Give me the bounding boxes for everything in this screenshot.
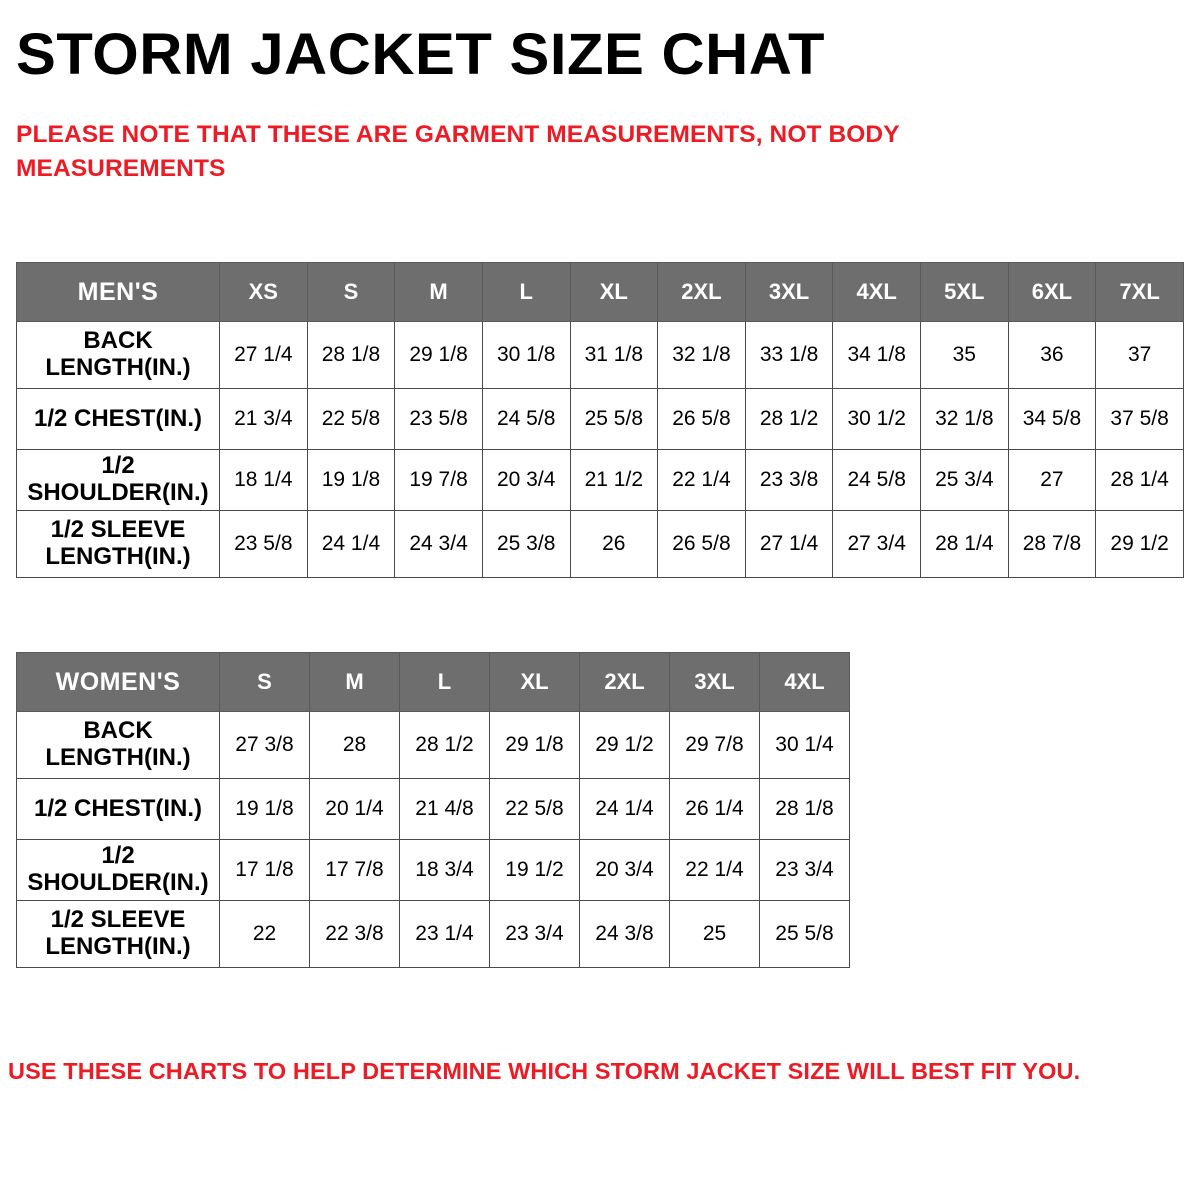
measurement-cell: 29 1/8 bbox=[395, 322, 483, 389]
table-row: 1/2 SLEEVELENGTH(IN.)2222 3/823 1/423 3/… bbox=[17, 901, 850, 968]
measurement-cell: 22 5/8 bbox=[490, 779, 580, 840]
measurement-cell: 22 3/8 bbox=[310, 901, 400, 968]
measurement-cell: 33 1/8 bbox=[745, 322, 833, 389]
measurement-cell: 34 5/8 bbox=[1008, 389, 1096, 450]
measurement-cell: 29 1/8 bbox=[490, 712, 580, 779]
measurement-cell: 28 1/8 bbox=[760, 779, 850, 840]
measurement-cell: 25 3/8 bbox=[482, 511, 570, 578]
womens-size-table: WOMEN'SSMLXL2XL3XL4XL BACKLENGTH(IN.)27 … bbox=[16, 652, 850, 968]
measurement-cell: 20 1/4 bbox=[310, 779, 400, 840]
row-label-line: 1/2 SHOULDER(IN.) bbox=[17, 843, 219, 897]
table-row: 1/2 CHEST(IN.)19 1/820 1/421 4/822 5/824… bbox=[17, 779, 850, 840]
womens-corner-label: WOMEN'S bbox=[17, 653, 220, 712]
measurement-cell: 25 5/8 bbox=[760, 901, 850, 968]
measurement-cell: 26 bbox=[570, 511, 658, 578]
table-row: 1/2 SHOULDER(IN.)18 1/419 1/819 7/820 3/… bbox=[17, 450, 1184, 511]
measurement-cell: 25 5/8 bbox=[570, 389, 658, 450]
size-header-s: S bbox=[220, 653, 310, 712]
size-header-3xl: 3XL bbox=[670, 653, 760, 712]
measurement-cell: 20 3/4 bbox=[482, 450, 570, 511]
row-label-line: LENGTH(IN.) bbox=[17, 934, 219, 961]
measurement-cell: 22 bbox=[220, 901, 310, 968]
measurement-cell: 26 5/8 bbox=[658, 511, 746, 578]
row-label-line: LENGTH(IN.) bbox=[17, 745, 219, 772]
measurement-cell: 23 3/4 bbox=[490, 901, 580, 968]
row-label-line: 1/2 SHOULDER(IN.) bbox=[17, 453, 219, 507]
measurement-cell: 27 1/4 bbox=[220, 322, 308, 389]
row-label-line: 1/2 CHEST(IN.) bbox=[17, 796, 219, 823]
size-header-xs: XS bbox=[220, 263, 308, 322]
garment-measurement-note: PLEASE NOTE THAT THESE ARE GARMENT MEASU… bbox=[16, 118, 966, 186]
row-label: 1/2 CHEST(IN.) bbox=[17, 389, 220, 450]
row-label-line: BACK bbox=[17, 718, 219, 745]
row-label: 1/2 CHEST(IN.) bbox=[17, 779, 220, 840]
table-row: 1/2 CHEST(IN.)21 3/422 5/823 5/824 5/825… bbox=[17, 389, 1184, 450]
measurement-cell: 22 1/4 bbox=[658, 450, 746, 511]
measurement-cell: 28 7/8 bbox=[1008, 511, 1096, 578]
measurement-cell: 28 bbox=[310, 712, 400, 779]
measurement-cell: 36 bbox=[1008, 322, 1096, 389]
mens-table-header: MEN'SXSSMLXL2XL3XL4XL5XL6XL7XL bbox=[17, 263, 1184, 322]
row-label: 1/2 SLEEVELENGTH(IN.) bbox=[17, 511, 220, 578]
measurement-cell: 21 3/4 bbox=[220, 389, 308, 450]
size-header-3xl: 3XL bbox=[745, 263, 833, 322]
table-row: 1/2 SHOULDER(IN.)17 1/817 7/818 3/419 1/… bbox=[17, 840, 850, 901]
measurement-cell: 26 1/4 bbox=[670, 779, 760, 840]
row-label-line: 1/2 CHEST(IN.) bbox=[17, 406, 219, 433]
measurement-cell: 25 bbox=[670, 901, 760, 968]
size-header-6xl: 6XL bbox=[1008, 263, 1096, 322]
row-label: BACKLENGTH(IN.) bbox=[17, 712, 220, 779]
measurement-cell: 22 5/8 bbox=[307, 389, 395, 450]
measurement-cell: 25 3/4 bbox=[921, 450, 1009, 511]
measurement-cell: 30 1/4 bbox=[760, 712, 850, 779]
size-header-2xl: 2XL bbox=[580, 653, 670, 712]
measurement-cell: 19 1/8 bbox=[220, 779, 310, 840]
measurement-cell: 20 3/4 bbox=[580, 840, 670, 901]
page-title: STORM JACKET SIZE CHAT bbox=[16, 26, 825, 84]
size-header-m: M bbox=[395, 263, 483, 322]
measurement-cell: 19 1/2 bbox=[490, 840, 580, 901]
measurement-cell: 28 1/2 bbox=[745, 389, 833, 450]
measurement-cell: 23 1/4 bbox=[400, 901, 490, 968]
measurement-cell: 24 5/8 bbox=[833, 450, 921, 511]
size-chart-page: STORM JACKET SIZE CHAT PLEASE NOTE THAT … bbox=[0, 0, 1200, 1200]
use-charts-note: USE THESE CHARTS TO HELP DETERMINE WHICH… bbox=[8, 1058, 1128, 1085]
row-label-line: 1/2 SLEEVE bbox=[17, 907, 219, 934]
measurement-cell: 24 3/4 bbox=[395, 511, 483, 578]
womens-table-body: BACKLENGTH(IN.)27 3/82828 1/229 1/829 1/… bbox=[17, 712, 850, 968]
size-header-7xl: 7XL bbox=[1096, 263, 1184, 322]
row-label-line: LENGTH(IN.) bbox=[17, 355, 219, 382]
row-label: 1/2 SHOULDER(IN.) bbox=[17, 450, 220, 511]
measurement-cell: 37 bbox=[1096, 322, 1184, 389]
measurement-cell: 21 4/8 bbox=[400, 779, 490, 840]
size-header-xl: XL bbox=[570, 263, 658, 322]
size-header-2xl: 2XL bbox=[658, 263, 746, 322]
measurement-cell: 37 5/8 bbox=[1096, 389, 1184, 450]
size-header-l: L bbox=[482, 263, 570, 322]
table-row: BACKLENGTH(IN.)27 3/82828 1/229 1/829 1/… bbox=[17, 712, 850, 779]
womens-table-header: WOMEN'SSMLXL2XL3XL4XL bbox=[17, 653, 850, 712]
measurement-cell: 30 1/2 bbox=[833, 389, 921, 450]
size-header-s: S bbox=[307, 263, 395, 322]
row-label: BACKLENGTH(IN.) bbox=[17, 322, 220, 389]
measurement-cell: 18 1/4 bbox=[220, 450, 308, 511]
measurement-cell: 28 1/2 bbox=[400, 712, 490, 779]
measurement-cell: 24 1/4 bbox=[580, 779, 670, 840]
mens-corner-label: MEN'S bbox=[17, 263, 220, 322]
measurement-cell: 24 3/8 bbox=[580, 901, 670, 968]
measurement-cell: 27 3/8 bbox=[220, 712, 310, 779]
measurement-cell: 17 1/8 bbox=[220, 840, 310, 901]
size-header-m: M bbox=[310, 653, 400, 712]
measurement-cell: 23 5/8 bbox=[220, 511, 308, 578]
measurement-cell: 19 7/8 bbox=[395, 450, 483, 511]
row-label-line: LENGTH(IN.) bbox=[17, 544, 219, 571]
measurement-cell: 28 1/4 bbox=[921, 511, 1009, 578]
row-label: 1/2 SHOULDER(IN.) bbox=[17, 840, 220, 901]
size-header-4xl: 4XL bbox=[833, 263, 921, 322]
row-label: 1/2 SLEEVELENGTH(IN.) bbox=[17, 901, 220, 968]
measurement-cell: 23 3/8 bbox=[745, 450, 833, 511]
measurement-cell: 18 3/4 bbox=[400, 840, 490, 901]
measurement-cell: 35 bbox=[921, 322, 1009, 389]
measurement-cell: 27 bbox=[1008, 450, 1096, 511]
measurement-cell: 27 1/4 bbox=[745, 511, 833, 578]
measurement-cell: 30 1/8 bbox=[482, 322, 570, 389]
measurement-cell: 21 1/2 bbox=[570, 450, 658, 511]
size-header-4xl: 4XL bbox=[760, 653, 850, 712]
size-header-l: L bbox=[400, 653, 490, 712]
size-header-xl: XL bbox=[490, 653, 580, 712]
mens-table-body: BACKLENGTH(IN.)27 1/428 1/829 1/830 1/83… bbox=[17, 322, 1184, 578]
measurement-cell: 29 1/2 bbox=[580, 712, 670, 779]
row-label-line: 1/2 SLEEVE bbox=[17, 517, 219, 544]
measurement-cell: 28 1/4 bbox=[1096, 450, 1184, 511]
size-header-5xl: 5XL bbox=[921, 263, 1009, 322]
measurement-cell: 28 1/8 bbox=[307, 322, 395, 389]
row-label-line: BACK bbox=[17, 328, 219, 355]
measurement-cell: 27 3/4 bbox=[833, 511, 921, 578]
mens-header-row: MEN'SXSSMLXL2XL3XL4XL5XL6XL7XL bbox=[17, 263, 1184, 322]
measurement-cell: 23 5/8 bbox=[395, 389, 483, 450]
measurement-cell: 24 1/4 bbox=[307, 511, 395, 578]
table-row: 1/2 SLEEVELENGTH(IN.)23 5/824 1/424 3/42… bbox=[17, 511, 1184, 578]
measurement-cell: 32 1/8 bbox=[921, 389, 1009, 450]
measurement-cell: 23 3/4 bbox=[760, 840, 850, 901]
measurement-cell: 26 5/8 bbox=[658, 389, 746, 450]
measurement-cell: 22 1/4 bbox=[670, 840, 760, 901]
measurement-cell: 31 1/8 bbox=[570, 322, 658, 389]
measurement-cell: 29 1/2 bbox=[1096, 511, 1184, 578]
mens-size-table: MEN'SXSSMLXL2XL3XL4XL5XL6XL7XL BACKLENGT… bbox=[16, 262, 1184, 578]
measurement-cell: 34 1/8 bbox=[833, 322, 921, 389]
table-row: BACKLENGTH(IN.)27 1/428 1/829 1/830 1/83… bbox=[17, 322, 1184, 389]
measurement-cell: 19 1/8 bbox=[307, 450, 395, 511]
measurement-cell: 24 5/8 bbox=[482, 389, 570, 450]
womens-header-row: WOMEN'SSMLXL2XL3XL4XL bbox=[17, 653, 850, 712]
measurement-cell: 17 7/8 bbox=[310, 840, 400, 901]
measurement-cell: 29 7/8 bbox=[670, 712, 760, 779]
measurement-cell: 32 1/8 bbox=[658, 322, 746, 389]
